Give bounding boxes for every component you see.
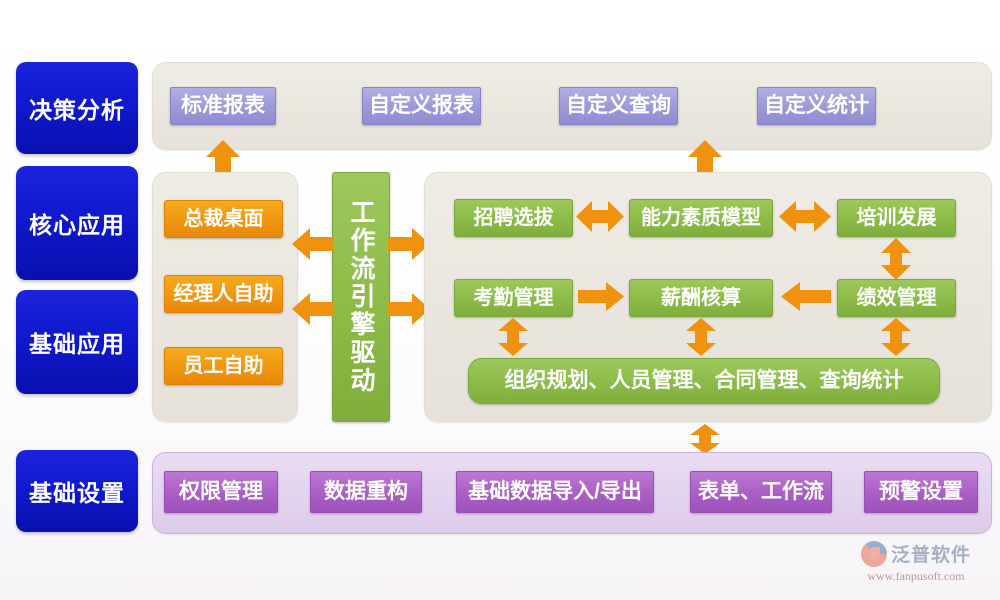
- category-label: 基础设置: [29, 474, 125, 508]
- arrow-left-workflow-to-self-service-bottom: [292, 293, 334, 325]
- core-foundation-modules[interactable]: 组织规划、人员管理、合同管理、查询统计: [468, 358, 940, 404]
- arrow-up-core-to-decision: [688, 140, 722, 172]
- self-service-manager[interactable]: 经理人自助: [164, 275, 283, 313]
- core-recruitment-selection[interactable]: 招聘选拔: [454, 199, 573, 237]
- chip-label: 表单、工作流: [698, 480, 824, 503]
- settings-basic-data-import-export[interactable]: 基础数据导入/导出: [456, 471, 654, 513]
- chip-label: 自定义统计: [764, 94, 869, 117]
- watermark-company-name: 泛普软件: [891, 540, 971, 567]
- core-payroll-accounting[interactable]: 薪酬核算: [629, 279, 773, 317]
- arrow-bidirectional-payroll-foundation: [686, 318, 716, 356]
- decision-item-standard-report[interactable]: 标准报表: [170, 87, 276, 125]
- chip-label: 经理人自助: [174, 283, 274, 305]
- arrow-right-attendance-to-payroll: [578, 282, 624, 311]
- workflow-engine-label: 工作流引擎驱动: [343, 199, 379, 395]
- arrow-bidirectional-training-performance: [881, 238, 911, 280]
- watermark: 泛普软件 www.fanpusoft.com: [846, 534, 986, 590]
- arrow-bidirectional-attendance-foundation: [498, 318, 528, 356]
- category-label: 基础应用: [29, 325, 125, 359]
- arrow-left-workflow-to-self-service-top: [292, 228, 334, 260]
- self-service-employee[interactable]: 员工自助: [164, 347, 283, 385]
- chip-label: 组织规划、人员管理、合同管理、查询统计: [505, 369, 904, 392]
- category-basic-application[interactable]: 基础应用: [16, 290, 138, 394]
- arrow-bidirectional-recruitment-competency: [576, 201, 624, 232]
- chip-label: 数据重构: [324, 480, 408, 503]
- arrow-bidirectional-performance-foundation: [881, 318, 911, 356]
- decision-item-custom-query[interactable]: 自定义查询: [559, 87, 678, 125]
- settings-data-restructure[interactable]: 数据重构: [310, 471, 422, 513]
- category-label: 决策分析: [29, 91, 125, 125]
- chip-label: 薪酬核算: [661, 287, 741, 309]
- chip-label: 标准报表: [181, 94, 265, 117]
- core-attendance-management[interactable]: 考勤管理: [454, 279, 573, 317]
- category-decision-analysis[interactable]: 决策分析: [16, 62, 138, 154]
- core-training-development[interactable]: 培训发展: [837, 199, 956, 237]
- chip-label: 预警设置: [879, 480, 963, 503]
- arrow-left-performance-to-payroll: [781, 282, 831, 311]
- settings-alert-configuration[interactable]: 预警设置: [864, 471, 978, 513]
- company-logo-icon: [861, 541, 887, 567]
- settings-permission-management[interactable]: 权限管理: [164, 471, 278, 513]
- chip-label: 自定义查询: [566, 94, 671, 117]
- diagram-canvas: 决策分析 核心应用 基础应用 基础设置 标准报表 自定义报表 自定义查询 自定义…: [0, 0, 1000, 600]
- category-core-application[interactable]: 核心应用: [16, 166, 138, 280]
- self-service-ceo-desktop[interactable]: 总裁桌面: [164, 200, 283, 238]
- chip-label: 总裁桌面: [184, 208, 264, 230]
- category-basic-settings[interactable]: 基础设置: [16, 450, 138, 532]
- decision-item-custom-statistics[interactable]: 自定义统计: [757, 87, 876, 125]
- category-label: 核心应用: [29, 206, 125, 240]
- chip-label: 员工自助: [184, 355, 264, 377]
- chip-label: 能力素质模型: [641, 207, 761, 229]
- decision-item-custom-report[interactable]: 自定义报表: [362, 87, 481, 125]
- arrow-bidirectional-competency-training: [779, 201, 831, 232]
- core-competency-model[interactable]: 能力素质模型: [629, 199, 773, 237]
- settings-form-workflow[interactable]: 表单、工作流: [690, 471, 832, 513]
- arrow-up-self-service-to-decision: [206, 140, 240, 172]
- watermark-brand-row: 泛普软件: [861, 540, 971, 567]
- chip-label: 考勤管理: [474, 287, 554, 309]
- workflow-engine-bar[interactable]: 工作流引擎驱动: [332, 172, 390, 422]
- chip-label: 自定义报表: [369, 94, 474, 117]
- chip-label: 培训发展: [857, 207, 937, 229]
- chip-label: 权限管理: [179, 480, 263, 503]
- watermark-url: www.fanpusoft.com: [867, 569, 964, 584]
- core-performance-management[interactable]: 绩效管理: [837, 279, 956, 317]
- chip-label: 绩效管理: [857, 287, 937, 309]
- chip-label: 基础数据导入/导出: [468, 480, 642, 503]
- arrow-bidirectional-core-to-settings: [690, 424, 720, 454]
- chip-label: 招聘选拔: [474, 207, 554, 229]
